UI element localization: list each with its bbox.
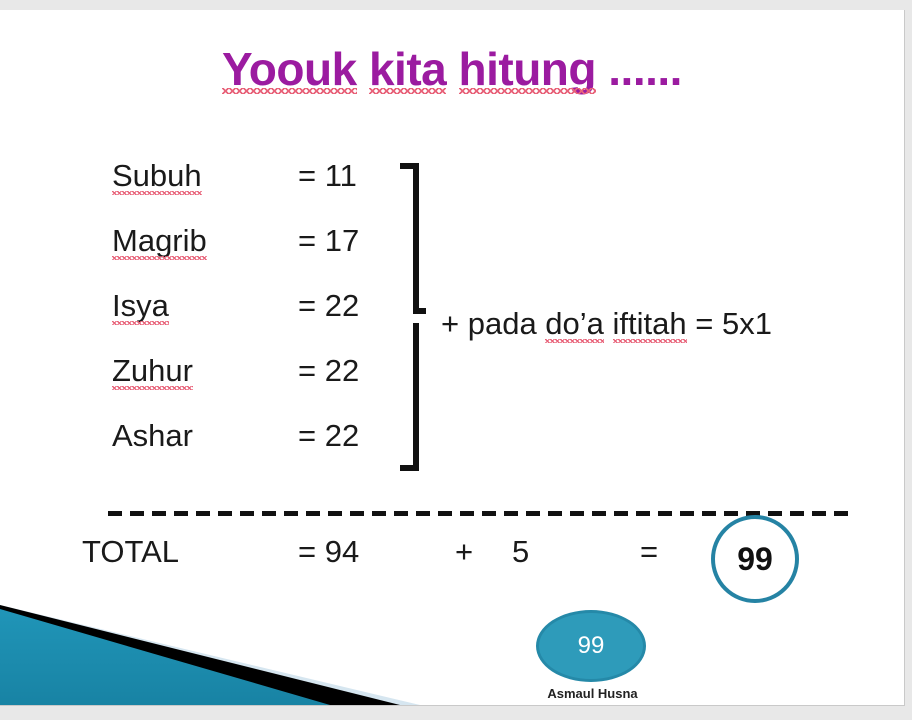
total-extra-value: 5 — [512, 534, 529, 570]
title-word-kita: kita — [369, 42, 446, 96]
corner-decoration — [0, 575, 520, 705]
title-word-hitung: hitung — [459, 42, 597, 96]
prayer-name: Ashar — [112, 418, 193, 454]
prayer-name: Isya — [112, 288, 169, 324]
prayer-name: Magrib — [112, 223, 207, 259]
prayer-value: = 17 — [298, 223, 359, 259]
badge-number: 99 — [536, 610, 646, 682]
note-word-iftitah: iftitah — [613, 306, 687, 342]
list-item: Subuh = 11 — [112, 158, 432, 223]
prayer-name: Subuh — [112, 158, 202, 194]
prayer-value: = 22 — [298, 288, 359, 324]
result-value: 99 — [711, 515, 799, 603]
list-item: Magrib = 17 — [112, 223, 432, 288]
note-word-doa: do’a — [545, 306, 604, 342]
prayer-value: = 11 — [298, 158, 357, 194]
slide-canvas: Yoouk kita hitung ...... Subuh = 11 Magr… — [0, 10, 905, 706]
prayer-count-list: Subuh = 11 Magrib = 17 Isya = 22 Zuhur =… — [112, 158, 432, 483]
total-equals-sign: = — [640, 534, 658, 570]
page-title: Yoouk kita hitung ...... — [0, 42, 904, 96]
brace-note: + pada do’a iftitah = 5x1 — [441, 306, 772, 342]
total-plus-sign: + — [455, 534, 473, 570]
list-item: Ashar = 22 — [112, 418, 432, 483]
prayer-value: = 22 — [298, 418, 359, 454]
list-item: Isya = 22 — [112, 288, 432, 353]
total-label: TOTAL — [82, 534, 179, 570]
curly-brace-icon — [396, 162, 430, 472]
title-word-yoouk: Yoouk — [222, 42, 357, 96]
asmaul-husna-badge: 99 Asmaul Husna — [525, 606, 660, 706]
badge-caption: Asmaul Husna — [525, 686, 660, 701]
prayer-value: = 22 — [298, 353, 359, 389]
prayer-name: Zuhur — [112, 353, 193, 389]
total-sum: = 94 — [298, 534, 359, 570]
list-item: Zuhur = 22 — [112, 353, 432, 418]
